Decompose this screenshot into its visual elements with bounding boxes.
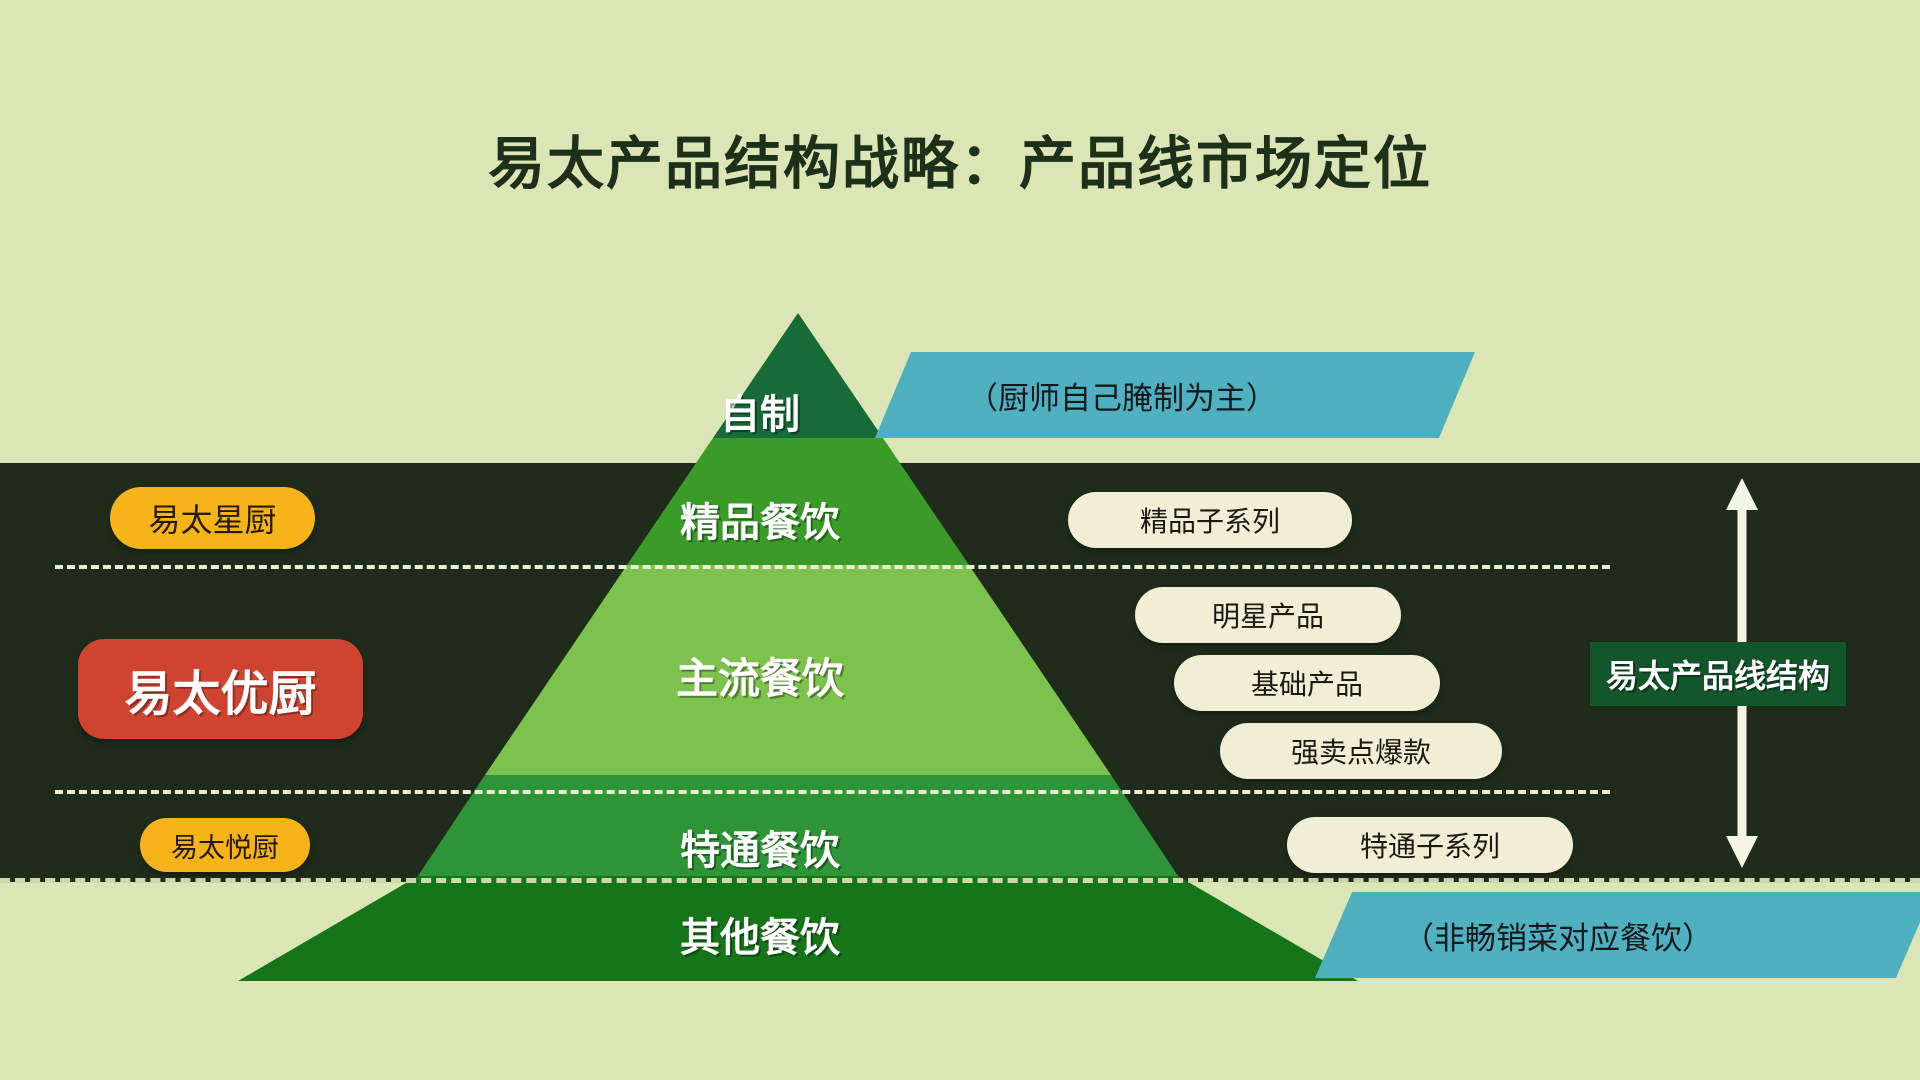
callout-top-banner: （厨师自己腌制为主）	[875, 352, 1475, 438]
tier-divider-lower	[55, 790, 1610, 794]
pyramid-tier-label-1: 精品餐饮	[620, 490, 900, 548]
band-bottom-divider	[0, 878, 1920, 883]
callout-bottom-banner: （非畅销菜对应餐饮）	[1315, 892, 1920, 978]
brand-badge-yitai-yuechu[interactable]: 易太悦厨	[140, 818, 310, 872]
brand-badge-yitai-youchu[interactable]: 易太优厨	[78, 639, 363, 739]
callout-bottom-text: （非畅销菜对应餐饮）	[1315, 913, 1713, 958]
brand-badge-yitai-xingchu[interactable]: 易太星厨	[110, 487, 315, 549]
callout-top-text: （厨师自己腌制为主）	[875, 373, 1277, 418]
product-pill-basic-product[interactable]: 基础产品	[1174, 655, 1440, 711]
pyramid-tier-label-0: 自制	[640, 382, 880, 440]
pyramid-tier-label-2: 主流餐饮	[600, 645, 920, 706]
product-pill-strong-selling-hit[interactable]: 强卖点爆款	[1220, 723, 1502, 779]
product-pill-star-product[interactable]: 明星产品	[1135, 587, 1401, 643]
axis-label-product-line-structure: 易太产品线结构	[1590, 642, 1846, 706]
tier-divider-upper	[55, 565, 1610, 569]
pyramid-tier-label-4: 其他餐饮	[620, 905, 900, 963]
product-pill-tetong-subseries[interactable]: 特通子系列	[1287, 817, 1573, 873]
pyramid-tier-label-3: 特通餐饮	[620, 818, 900, 876]
product-pill-jingpin-subseries[interactable]: 精品子系列	[1068, 492, 1352, 548]
page-title: 易太产品结构战略：产品线市场定位	[0, 118, 1920, 200]
